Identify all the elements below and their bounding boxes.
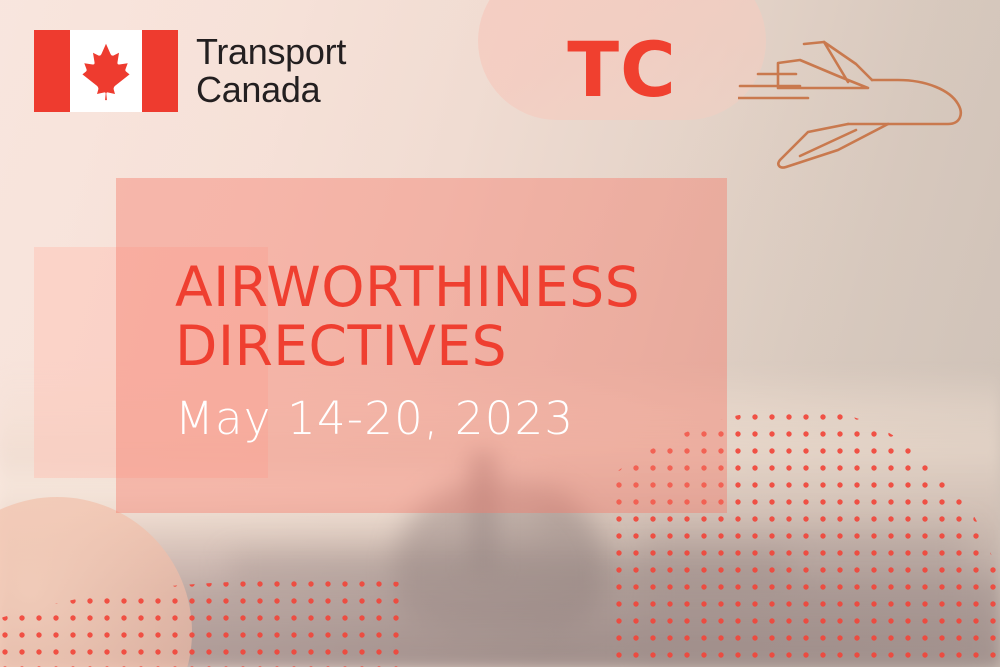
organization-name-line1: Transport bbox=[196, 33, 346, 71]
flag-left-bar bbox=[34, 30, 70, 112]
flag-right-bar bbox=[142, 30, 178, 112]
transport-canada-logo: Transport Canada bbox=[34, 30, 346, 112]
airworthiness-directives-banner: TC bbox=[0, 0, 1000, 667]
page-title-line1: AIRWORTHINESS bbox=[175, 255, 640, 319]
headline-block: AIRWORTHINESS DIRECTIVES May 14-20, 2023 bbox=[175, 258, 735, 441]
tc-badge: TC bbox=[478, 0, 766, 120]
speed-lines-icon bbox=[738, 74, 808, 98]
canadian-flag-icon bbox=[34, 30, 178, 112]
maple-leaf-icon bbox=[75, 40, 137, 102]
organization-name: Transport Canada bbox=[196, 33, 346, 109]
page-title-line2: DIRECTIVES bbox=[175, 314, 507, 378]
airplane-line-icon bbox=[738, 38, 988, 173]
date-range: May 14-20, 2023 bbox=[175, 396, 735, 441]
page-title: AIRWORTHINESS DIRECTIVES bbox=[175, 258, 735, 376]
organization-name-line2: Canada bbox=[196, 71, 346, 109]
tc-badge-label: TC bbox=[567, 32, 677, 108]
